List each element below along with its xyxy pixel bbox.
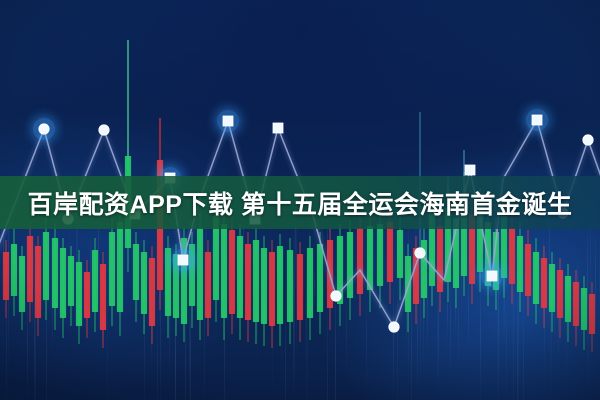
stock-banner-image: 百岸配资APP下载 第十五届全运会海南首金诞生	[0, 0, 600, 400]
headline-text: 百岸配资APP下载 第十五届全运会海南首金诞生	[0, 176, 600, 229]
